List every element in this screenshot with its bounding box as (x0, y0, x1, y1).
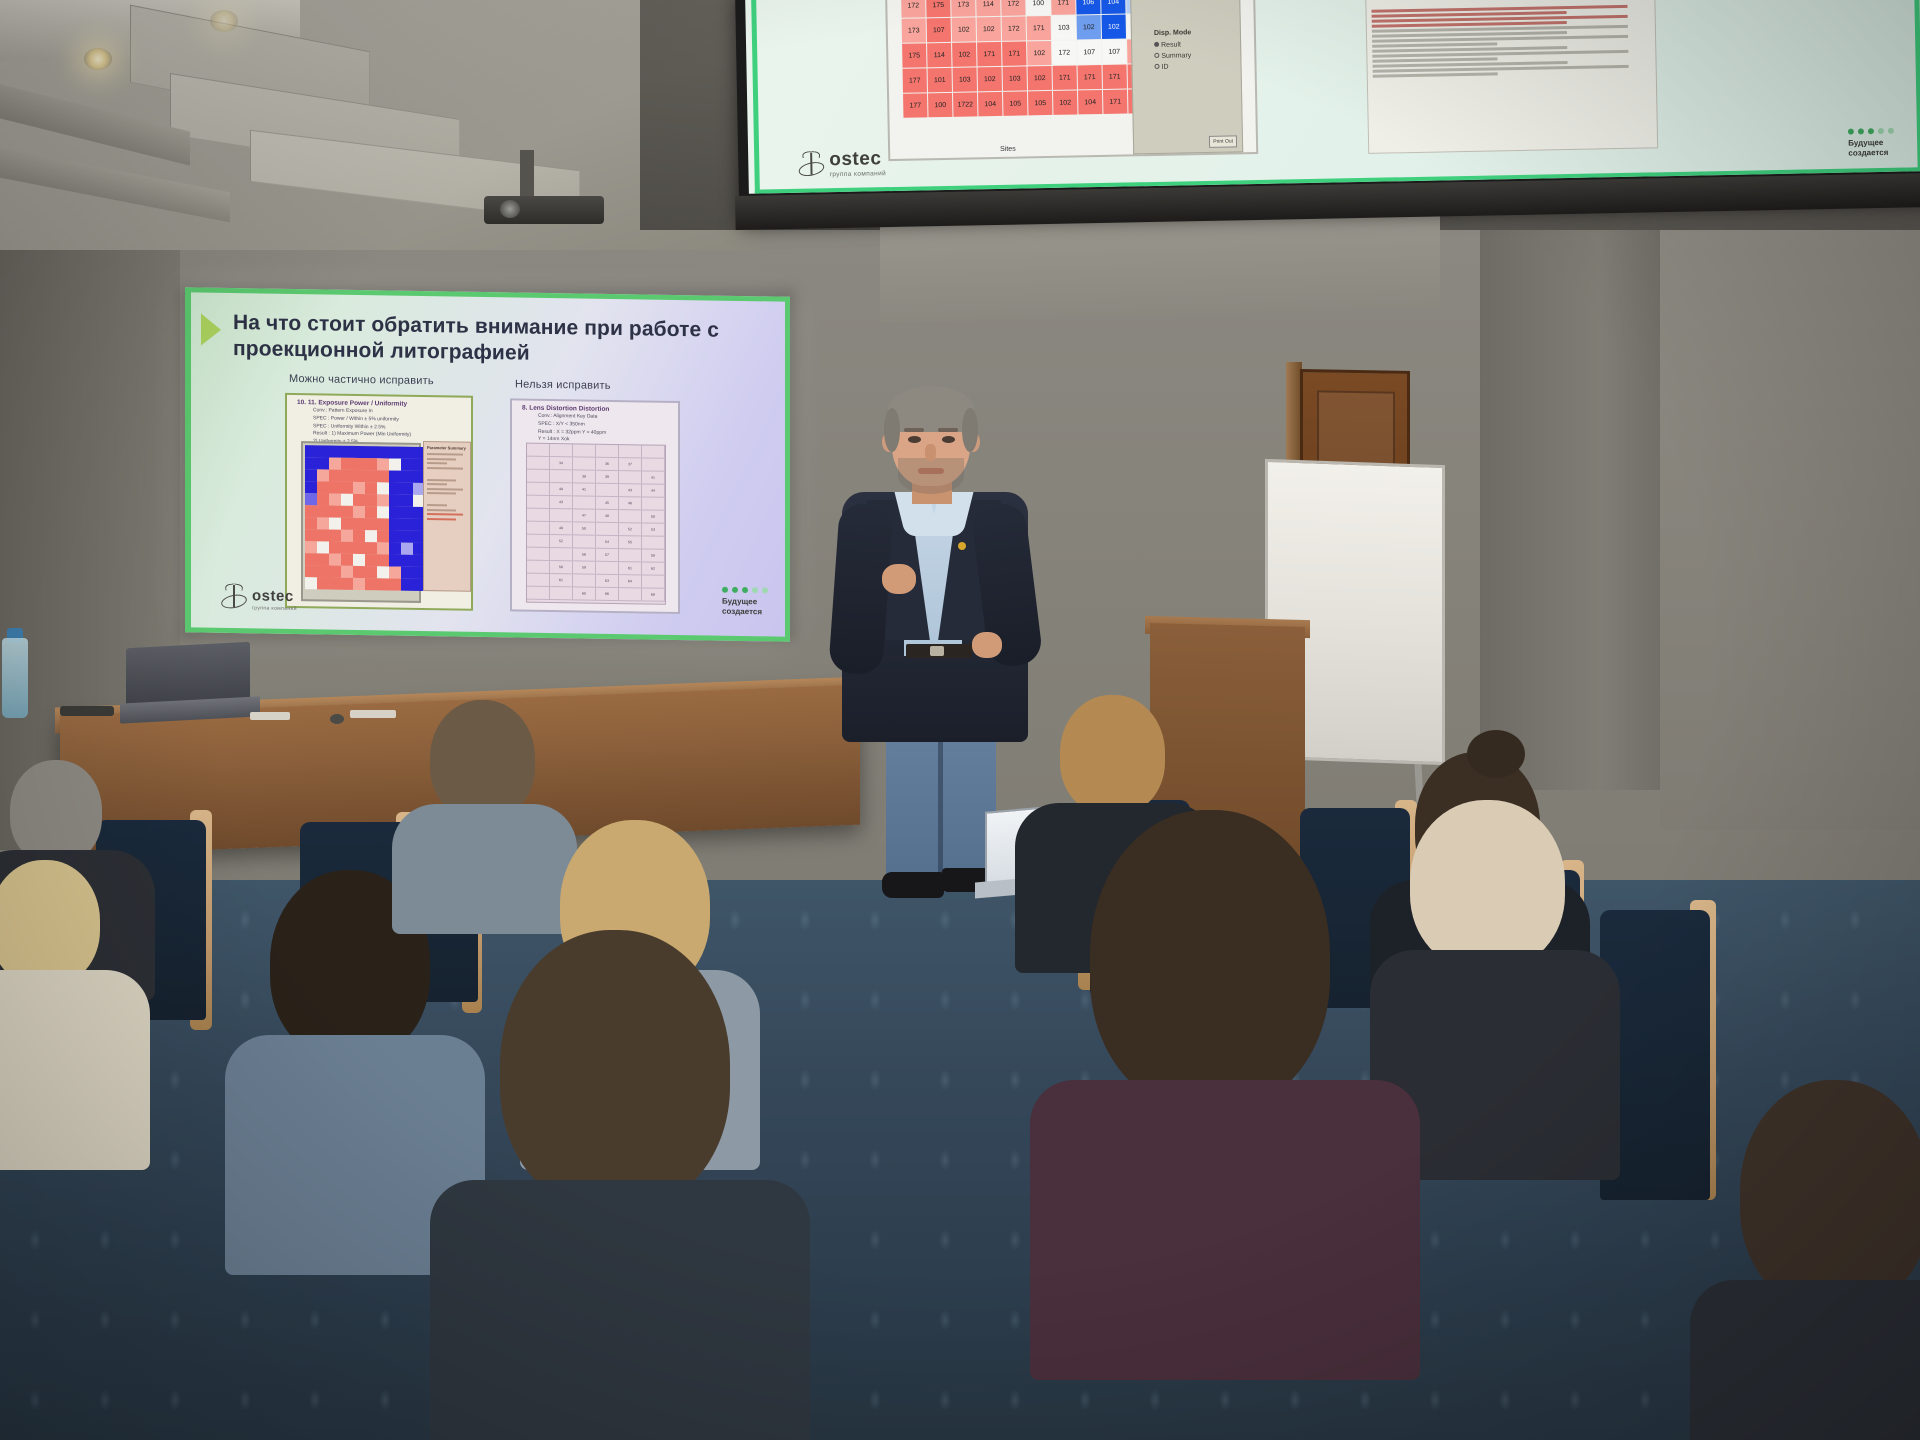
presenter-leg-seam (938, 722, 943, 882)
slide-wafer-cell (353, 578, 365, 590)
table-cell: 58 (550, 561, 573, 573)
tv-ostec-logo: ostec группа компаний (798, 149, 886, 179)
radio-icon (1154, 42, 1159, 47)
table-cell (527, 561, 550, 573)
tv-wafer-cell: 101 (928, 68, 952, 92)
slide-wafer-cell (329, 494, 341, 506)
slide-wafer-cell (329, 566, 341, 578)
tv-brand-word: ostec (829, 149, 886, 169)
tv-slide-border-right (1914, 0, 1920, 171)
slide-wafer-cell (305, 577, 317, 589)
slide-wafer-cell (389, 506, 401, 518)
presenter-belt-buckle (930, 646, 944, 656)
table-cell (527, 470, 550, 482)
table-cell: 56 (573, 548, 596, 560)
tv-wafer-cell: 104 (1078, 90, 1102, 114)
table-row: 656668 (527, 587, 665, 602)
slide-wafer-cell (389, 530, 401, 542)
slide-wafer-cell (353, 458, 365, 470)
slide-wafer-cell (305, 469, 317, 481)
table-cell: 48 (596, 510, 619, 522)
slide-wafer-cell (305, 481, 317, 493)
table-cell: 68 (642, 588, 665, 600)
table-cell (550, 444, 573, 456)
attendee-shoulders (392, 804, 577, 934)
slide-wafer-cell (317, 505, 329, 517)
tv-radio-result[interactable]: Result (1154, 40, 1236, 49)
table-cell (573, 574, 596, 586)
tv-wafer-cell: 1722 (953, 92, 977, 116)
tv-wafer-cell: 102 (1027, 41, 1051, 65)
table-cell (527, 457, 550, 469)
slide-wafer-cell (329, 458, 341, 470)
slide-wafer-cell (389, 518, 401, 530)
slide-wafer-cell (353, 470, 365, 482)
table-cell: 57 (596, 549, 619, 561)
slide-wafer-cell (317, 469, 329, 481)
slide-title: На что стоит обратить внимание при работ… (233, 310, 753, 369)
tv-wafer-cell: 102 (1077, 15, 1101, 39)
tv-wafer-cell: 173 (902, 18, 926, 42)
table-cell (527, 444, 550, 456)
downlight-icon-2 (210, 10, 238, 32)
attendee-head (500, 930, 730, 1210)
slide-wafer-cell (401, 483, 413, 495)
slide-wafer-cell (365, 542, 377, 554)
slide-wafer-cell (317, 529, 329, 541)
table-cell: 39 (596, 471, 619, 483)
tv-disp-mode-label: Disp. Mode (1154, 28, 1236, 37)
tv-wafer-cell: 102 (1102, 15, 1126, 39)
slide-wafer-cell (329, 470, 341, 482)
slide-wafer-cell (377, 482, 389, 494)
table-cell (619, 445, 642, 457)
slide-wafer-cell (401, 567, 413, 579)
slide-wafer-cell (317, 457, 329, 469)
tv-future-tagline: Будущее создается (1848, 128, 1895, 159)
attendee-head (1060, 695, 1165, 815)
tv-wafer-cell: 171 (1051, 0, 1075, 15)
tv-wafer-cell: 107 (927, 18, 951, 42)
tv-wafer-cell: 171 (977, 42, 1001, 66)
slide-wafer-cell (341, 446, 353, 458)
slide-wafer-cell (365, 506, 377, 518)
tv-slide-border-left (751, 0, 760, 194)
slide-wafer-cell (341, 470, 353, 482)
tv-option-id-label: ID (1161, 64, 1168, 71)
slide-wafer-cell (401, 543, 413, 555)
table-cell (642, 445, 665, 457)
slide-wafer-cell (389, 482, 401, 494)
tv-wafer-cell: 102 (952, 17, 976, 41)
slide-future-tagline: Будущее создается (722, 587, 768, 618)
slide-wafer-cell (305, 529, 317, 541)
slide-wafer-cell (341, 542, 353, 554)
table-cell: 37 (619, 458, 642, 470)
slide-wafer-cell (353, 506, 365, 518)
presenter-beard (898, 458, 964, 494)
tv-wafer-cell: 171 (1103, 89, 1127, 113)
tv-option-summary-label: Summary (1161, 52, 1191, 60)
tv-wafer-cell: 103 (1052, 15, 1076, 39)
presenter-lapel-pin-icon (958, 542, 966, 550)
tv-wafer-cell: 105 (1028, 91, 1052, 115)
slide-wafer-cell (365, 494, 377, 506)
slide-wafer-cell (329, 506, 341, 518)
slide-wafer-grid (305, 445, 425, 590)
slide-wafer-cell (305, 541, 317, 553)
slide-wafer-cell (365, 554, 377, 566)
table-item-paper-2 (350, 710, 396, 718)
projector-lens-icon (500, 200, 520, 218)
right-panel-sublines: Conv.: Alignment Key DataSPEC : X/Y < 35… (512, 412, 678, 446)
table-cell (642, 575, 665, 587)
attendee-head (1740, 1080, 1920, 1310)
slide-wafer-cell (377, 554, 389, 566)
table-cell (642, 536, 665, 548)
slide-wafer-cell (305, 457, 317, 469)
tv-wafer-cell: 103 (953, 67, 977, 91)
presenter-nose (925, 444, 936, 461)
table-cell (527, 587, 550, 599)
presenter-hair (888, 386, 974, 432)
table-cell: 50 (573, 522, 596, 534)
presenter-brow-right (938, 428, 958, 432)
tv-wafer-cell: 177 (903, 93, 927, 117)
table-cell (550, 509, 573, 521)
tv-wafer-cell: 100 (928, 93, 952, 117)
slide-wafer-cell (317, 577, 329, 589)
tv-wafer-cell: 172 (901, 0, 925, 18)
slide-wafer-cell (389, 494, 401, 506)
conference-room-photo: 1031001041021071721051041071071041721751… (0, 0, 1920, 1440)
tv-wafer-cell: 172 (1052, 40, 1076, 64)
table-cell: 36 (596, 458, 619, 470)
slide-wafer-cell (353, 494, 365, 506)
ostec-mark-icon (221, 583, 247, 611)
slide-wafer-cell (389, 554, 401, 566)
radio-icon (1154, 64, 1159, 69)
tv-screen-content: 1031001041021071721051041071071041721751… (745, 0, 1920, 194)
table-item-remote (60, 706, 114, 716)
presenter-eye-left (908, 436, 921, 443)
table-cell (527, 535, 550, 547)
slide-wafer-cell (341, 506, 353, 518)
tv-option-result-label: Result (1161, 41, 1181, 48)
slide-wafer-cell (317, 445, 329, 457)
tv-wafer-cell: 177 (903, 68, 927, 92)
table-cell: 47 (573, 509, 596, 521)
tv-wafer-cell: 102 (978, 67, 1002, 91)
water-bottle (2, 638, 28, 718)
slide-wafer-cell (377, 446, 389, 458)
right-wall-column (1480, 230, 1680, 790)
tv-tagline-line2: создается (1848, 148, 1894, 159)
attendee-shoulders (1030, 1080, 1420, 1380)
slide-wafer-cell (365, 530, 377, 542)
slide-wafer-cell (329, 542, 341, 554)
slide-wafer-cell (401, 555, 413, 567)
attendee-shoulders (1690, 1280, 1920, 1440)
table-cell: 46 (619, 497, 642, 509)
attendee-head (10, 760, 102, 864)
attendee-shoulders (0, 970, 150, 1170)
slide-wafer-cell (341, 482, 353, 494)
table-cell (619, 510, 642, 522)
slide-border-right (785, 297, 790, 642)
tv-wafer-cell: 100 (1026, 0, 1050, 15)
slide-wafer-cell (341, 530, 353, 542)
slide-wafer-cell (389, 458, 401, 470)
slide-brand-word: ostec (252, 588, 297, 604)
slide-panel-right: 8. Lens Distortion Distortion Conv.: Ali… (510, 398, 680, 614)
attendee-head (0, 860, 100, 986)
slide-wafer-cell (389, 470, 401, 482)
slide-wafer-cell (329, 578, 341, 590)
slide-wafer-cell (353, 566, 365, 578)
slide-wafer-map (301, 441, 421, 603)
tv-wafer-cell: 171 (1078, 65, 1102, 89)
slide-wafer-cell (317, 565, 329, 577)
table-cell (573, 457, 596, 469)
presenter-hand-left (882, 564, 916, 594)
table-cell: 54 (596, 536, 619, 548)
tv-wafer-cell: 104 (1101, 0, 1125, 14)
table-cell: 59 (642, 549, 665, 561)
table-cell: 41 (573, 483, 596, 495)
tv-wafer-cell: 106 (1076, 0, 1100, 14)
slide-wafer-cell (341, 518, 353, 530)
slide-wafer-cell (377, 494, 389, 506)
stats-title: Parameter Summary (427, 445, 467, 451)
slide-wafer-cell (341, 458, 353, 470)
slide-wafer-cell (305, 445, 317, 457)
slide-wafer-cell (401, 459, 413, 471)
table-cell: 55 (619, 536, 642, 548)
slide-brand-sub: группа компаний (252, 605, 297, 612)
slide-wafer-cell (401, 471, 413, 483)
presenter-eye-right (942, 436, 955, 443)
table-cell (527, 574, 550, 586)
slide-wafer-cell (401, 495, 413, 507)
right-panel-table: 3436373839414041434443454647485049505253… (526, 443, 666, 605)
slide-wafer-cell (389, 566, 401, 578)
tv-radio-summary[interactable]: Summary (1154, 51, 1236, 60)
slide-wafer-cell (377, 566, 389, 578)
tv-wafer-cell: 171 (1103, 64, 1127, 88)
tv-wafer-cell: 107 (1077, 40, 1101, 64)
ostec-mark-icon (798, 150, 825, 178)
slide-wafer-cell (305, 505, 317, 517)
table-cell (527, 509, 550, 521)
tv-wafer-cell: 175 (902, 43, 926, 67)
right-far-wall (1660, 180, 1920, 830)
table-cell (573, 535, 596, 547)
table-cell (596, 484, 619, 496)
slide-wafer-cell (401, 507, 413, 519)
table-cell: 59 (573, 561, 596, 573)
tv-radio-id[interactable]: ID (1154, 62, 1236, 71)
tv-side-panel: Wafer Auto Repeat Count 1 Wafer Auto Rep… (1130, 0, 1244, 154)
slide-wafer-cell (317, 541, 329, 553)
table-item-paper (250, 712, 290, 720)
slide-wafer-cell (401, 579, 413, 591)
presenter-shoe-left (882, 872, 944, 898)
tv-wafer-cell: 171 (1002, 41, 1026, 65)
slide-wafer-cell (377, 530, 389, 542)
slide-wafer-cell (341, 566, 353, 578)
slide-wafer-cell (341, 494, 353, 506)
slide-wafer-cell (365, 446, 377, 458)
slide-wafer-cell (401, 519, 413, 531)
slide-wafer-cell (389, 542, 401, 554)
table-cell: 43 (619, 484, 642, 496)
slide-wafer-cell (365, 458, 377, 470)
slide-wafer-cell (329, 530, 341, 542)
table-cell: 38 (573, 470, 596, 482)
tv-wafer-cell: 103 (1003, 66, 1027, 90)
slide-wafer-cell (329, 554, 341, 566)
slide-wafer-cell (377, 518, 389, 530)
slide-wafer-cell (353, 530, 365, 542)
slide-wafer-cell (305, 565, 317, 577)
table-cell (573, 496, 596, 508)
table-cell (619, 588, 642, 600)
tv-wafer-cell: 114 (927, 43, 951, 67)
slide-wafer-cell (317, 517, 329, 529)
attendee-head (1090, 810, 1330, 1110)
table-cell (550, 587, 573, 599)
table-cell: 49 (550, 522, 573, 534)
slide-ostec-logo: ostec группа компаний (221, 583, 297, 612)
table-cell (642, 458, 665, 470)
slide-wafer-cell (377, 578, 389, 590)
tv-wafer-cell: 172 (1002, 16, 1026, 40)
table-cell (596, 523, 619, 535)
slide-wafer-cell (365, 578, 377, 590)
slide-wafer-cell (353, 482, 365, 494)
attendee-head (1410, 800, 1565, 970)
slide-wafer-cell (305, 493, 317, 505)
tv-dots-icon (1848, 128, 1894, 135)
table-cell: 52 (619, 523, 642, 535)
attendee-head (430, 700, 535, 820)
tv-wafer-cell: 102 (1053, 90, 1077, 114)
tv-map-footer-label: Sites (1000, 146, 1016, 153)
projection-slide: На что стоит обратить внимание при работ… (185, 287, 790, 642)
table-cell: 45 (596, 497, 619, 509)
tv-report-document (1364, 0, 1658, 154)
slide-wafer-cell (317, 481, 329, 493)
slide-wafer-cell (329, 482, 341, 494)
table-cell: 41 (642, 471, 665, 483)
slide-wafer-cell (353, 542, 365, 554)
table-cell (527, 522, 550, 534)
table-cell (550, 470, 573, 482)
slide-wafer-cell (401, 447, 413, 459)
tv-wafer-cell: 175 (926, 0, 950, 17)
slide-wafer-cell (329, 446, 341, 458)
table-cell: 50 (642, 510, 665, 522)
tv-wafer-cell: 105 (1003, 91, 1027, 115)
slide-wafer-cell (377, 470, 389, 482)
slide-wafer-cell (377, 458, 389, 470)
radio-icon (1154, 53, 1159, 58)
slide-wafer-cell (341, 554, 353, 566)
tv-wafer-cell: 102 (977, 17, 1001, 41)
tv-brand-sub: группа компаний (829, 170, 886, 178)
projector-mount (520, 150, 534, 202)
downlight-icon (84, 48, 112, 70)
table-item-cable (330, 714, 344, 724)
slide-wafer-cell (353, 554, 365, 566)
table-cell (527, 483, 550, 495)
tv-wafer-cell: 171 (1027, 16, 1051, 40)
slide-wafer-cell (401, 531, 413, 543)
table-cell: 64 (619, 575, 642, 587)
table-cell: 40 (550, 483, 573, 495)
column-label-right: Нельзя исправить (515, 378, 611, 392)
slide-panel-left: 10. 11. Exposure Power / Uniformity Conv… (285, 393, 473, 611)
table-cell (642, 497, 665, 509)
slide-dots-icon (722, 587, 768, 594)
presenter-hair-side-left (884, 408, 900, 452)
attendee-hair-bun (1467, 730, 1525, 778)
tv-wafer-cell: 104 (978, 92, 1002, 116)
presenter-hair-side-right (962, 408, 978, 452)
slide-wafer-cell (341, 578, 353, 590)
slide-wafer-cell (317, 493, 329, 505)
slide-wafer-cell (365, 470, 377, 482)
slide-wafer-cell (305, 517, 317, 529)
table-cell (550, 548, 573, 560)
slide-border-left (185, 287, 191, 632)
table-cell (573, 444, 596, 456)
table-cell: 43 (550, 496, 573, 508)
slide-wafer-cell (305, 553, 317, 565)
table-cell: 61 (619, 562, 642, 574)
slide-wafer-cell (365, 518, 377, 530)
table-cell: 61 (550, 574, 573, 586)
slide-wafer-cell (365, 482, 377, 494)
presenter-brow-left (904, 428, 924, 432)
table-cell (619, 549, 642, 561)
chevron-right-icon (201, 313, 221, 345)
tv-wafer-cell: 102 (952, 42, 976, 66)
table-cell (596, 562, 619, 574)
table-cell: 44 (642, 484, 665, 496)
table-cell: 53 (642, 523, 665, 535)
slide-wafer-cell (377, 506, 389, 518)
slide-parameter-summary: Parameter Summary (423, 441, 471, 592)
tv-print-out-button[interactable]: Print Out (1209, 135, 1237, 148)
slide-wafer-cell (329, 518, 341, 530)
tv-wafer-cell: 107 (1102, 40, 1126, 64)
slide-tagline-line2: создается (722, 607, 768, 618)
table-cell: 63 (596, 575, 619, 587)
tv-wafer-cell: 102 (1028, 66, 1052, 90)
slide-wafer-cell (389, 578, 401, 590)
table-cell: 65 (573, 587, 596, 599)
table-cell (527, 548, 550, 560)
column-label-left: Можно частично исправить (289, 373, 434, 387)
slide-wafer-cell (389, 446, 401, 458)
table-cell: 52 (550, 535, 573, 547)
tv-wafer-cell: 172 (1001, 0, 1025, 16)
attendee-shoulders (430, 1180, 810, 1440)
table-cell (619, 471, 642, 483)
table-cell (596, 445, 619, 457)
